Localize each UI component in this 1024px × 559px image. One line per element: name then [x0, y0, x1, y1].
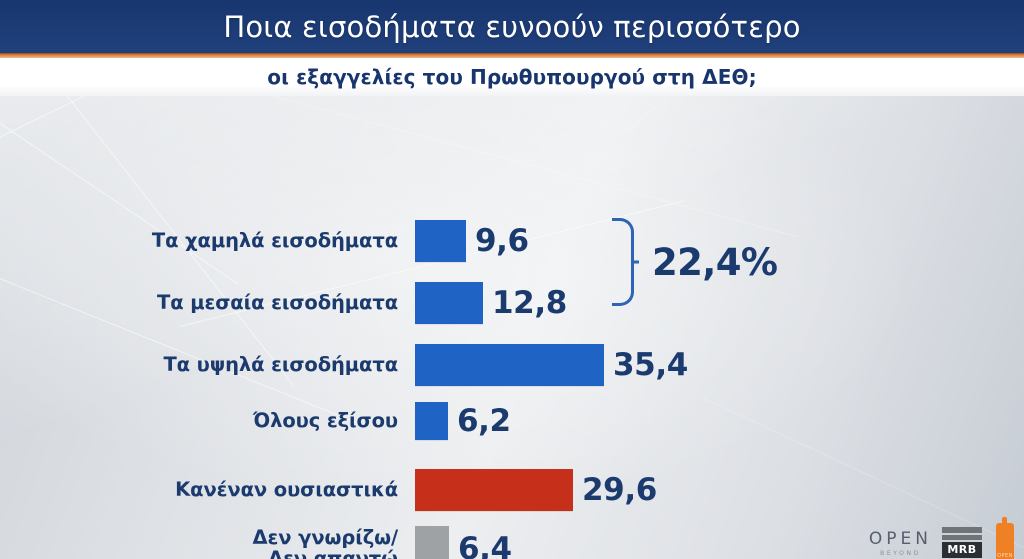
chart-row: Τα μεσαία εισοδήματα12,8 — [0, 282, 1024, 324]
mrb-logo: MRB — [942, 527, 982, 559]
mrb-bar-mid — [942, 535, 982, 540]
row-bar-group: 35,4 — [415, 344, 688, 386]
subtitle-bar: οι εξαγγελίες του Πρωθυπουργού στη ΔΕΘ; — [0, 58, 1024, 96]
open-wordmark: OPEN — [869, 529, 932, 549]
chart-row: Κανέναν ουσιαστικά29,6 — [0, 469, 1024, 511]
open-flame-icon: OPEN — [992, 517, 1018, 559]
title-bar: Ποια εισοδήματα ευνοούν περισσότερο — [0, 0, 1024, 53]
group-annotation: 22,4% — [612, 218, 777, 306]
bar — [415, 526, 449, 559]
open-tagline: BEYOND — [880, 550, 921, 557]
row-bar-group: 6,4 — [415, 526, 512, 559]
mrb-bar-top — [942, 527, 982, 533]
bar-value-label: 6,2 — [457, 403, 511, 439]
bar — [415, 282, 483, 324]
row-bar-group: 12,8 — [415, 282, 567, 324]
bar-value-label: 6,4 — [458, 531, 512, 559]
row-bar-group: 29,6 — [415, 469, 657, 511]
bar — [415, 469, 573, 511]
chart-row: Όλους εξίσου6,2 — [0, 402, 1024, 440]
row-category-label: Τα υψηλά εισοδήματα — [0, 355, 415, 375]
row-bar-group: 6,2 — [415, 402, 511, 440]
row-category-label: Όλους εξίσου — [0, 411, 415, 431]
bar-value-label: 12,8 — [492, 285, 567, 321]
page-title: Ποια εισοδήματα ευνοούν περισσότερο — [223, 10, 800, 44]
page-subtitle: οι εξαγγελίες του Πρωθυπουργού στη ΔΕΘ; — [267, 65, 756, 89]
chart-stage: Τα χαμηλά εισοδήματα9,6Τα μεσαία εισοδήμ… — [0, 96, 1024, 559]
row-category-label: Δεν γνωρίζω/ Δεν απαντώ — [0, 528, 415, 559]
row-category-label: Κανέναν ουσιαστικά — [0, 480, 415, 500]
poll-graphic: Ποια εισοδήματα ευνοούν περισσότερο οι ε… — [0, 0, 1024, 559]
row-bar-group: 9,6 — [415, 220, 529, 262]
bar-value-label: 9,6 — [475, 223, 529, 259]
row-category-label: Τα χαμηλά εισοδήματα — [0, 231, 415, 251]
curly-brace-icon — [612, 218, 634, 306]
bar — [415, 220, 466, 262]
bar — [415, 344, 604, 386]
open-beyond-logo: OPEN BEYOND — [869, 529, 932, 559]
logo-strip: OPEN BEYOND MRB OPEN — [869, 517, 1018, 559]
bar-chart: Τα χαμηλά εισοδήματα9,6Τα μεσαία εισοδήμ… — [0, 96, 1024, 559]
chart-row: Τα χαμηλά εισοδήματα9,6 — [0, 220, 1024, 262]
chart-row: Τα υψηλά εισοδήματα35,4 — [0, 344, 1024, 386]
bar-value-label: 29,6 — [582, 472, 657, 508]
bar — [415, 402, 448, 440]
row-category-label: Τα μεσαία εισοδήματα — [0, 293, 415, 313]
group-total-label: 22,4% — [652, 241, 777, 284]
bar-value-label: 35,4 — [613, 347, 688, 383]
mrb-wordmark: MRB — [942, 542, 982, 558]
flame-label: OPEN — [996, 553, 1014, 559]
